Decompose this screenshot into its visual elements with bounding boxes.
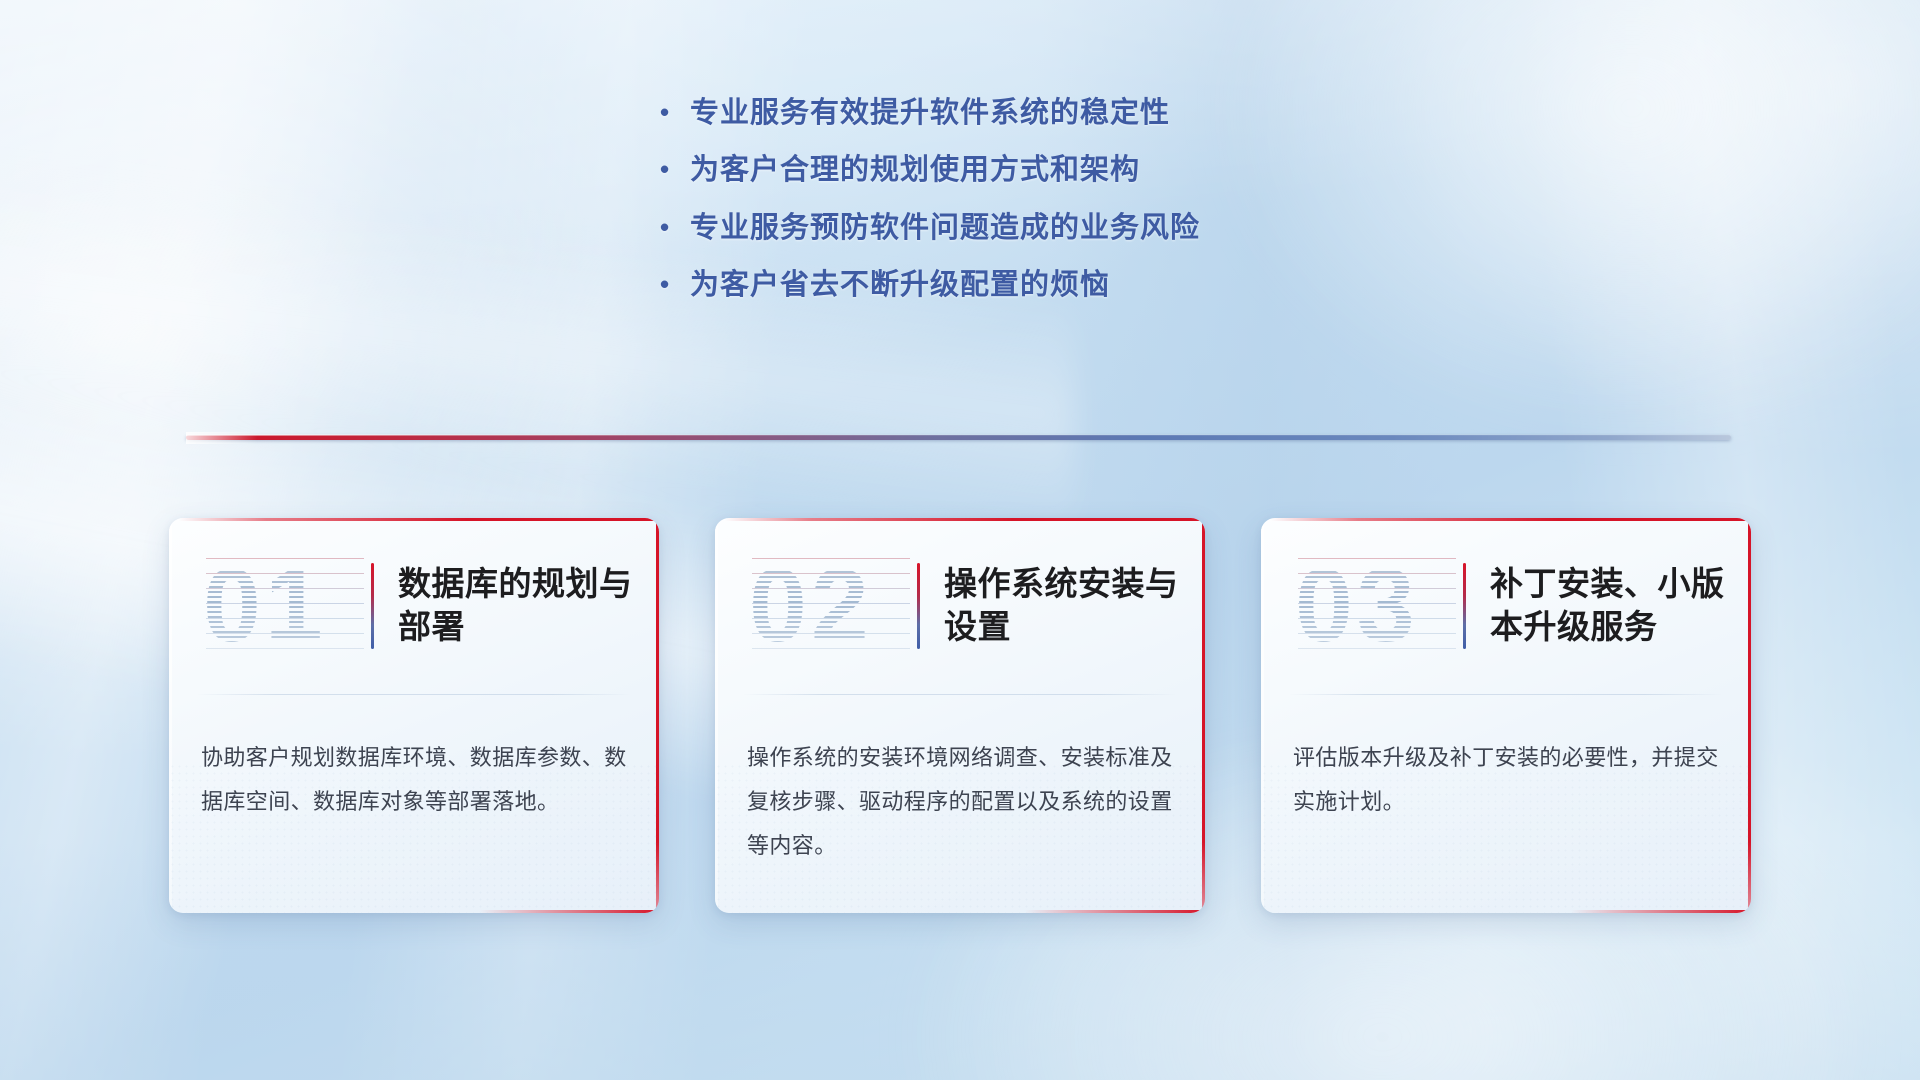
card-description: 协助客户规划数据库环境、数据库参数、数据库空间、数据库对象等部署落地。: [169, 694, 659, 824]
card-description: 操作系统的安装环境网络调查、安装标准及复核步骤、驱动程序的配置以及系统的设置等内…: [715, 694, 1205, 868]
card-header: 03 03 补丁安装、小版本升级服务: [1261, 518, 1751, 694]
bullet-item-3: • 专业服务预防软件问题造成的业务风险: [660, 211, 1440, 246]
bullet-item-4: • 为客户省去不断升级配置的烦恼: [660, 268, 1440, 303]
feature-card-row: 01 01 数据库的规划与部署 协助客户规划数据库环境、数据库参数、数据库空间、…: [0, 518, 1920, 913]
bullet-marker-icon: •: [660, 211, 690, 244]
bullet-marker-icon: •: [660, 96, 690, 129]
card-title: 数据库的规划与部署: [398, 563, 633, 649]
bullet-text-2: 为客户合理的规划使用方式和架构: [690, 153, 1440, 188]
bullet-marker-icon: •: [660, 153, 690, 186]
feature-card-02[interactable]: 02 02 操作系统安装与设置 操作系统的安装环境网络调查、安装标准及复核步骤、…: [715, 518, 1205, 913]
card-description: 评估版本升级及补丁安装的必要性，并提交实施计划。: [1261, 694, 1751, 824]
feature-card-03[interactable]: 03 03 补丁安装、小版本升级服务 评估版本升级及补丁安装的必要性，并提交实施…: [1261, 518, 1751, 913]
bullet-item-2: • 为客户合理的规划使用方式和架构: [660, 153, 1440, 188]
section-divider: [186, 432, 1731, 444]
bullet-text-4: 为客户省去不断升级配置的烦恼: [690, 268, 1440, 303]
card-title-accent-bar: [371, 563, 374, 649]
card-title: 补丁安装、小版本升级服务: [1490, 563, 1725, 649]
card-title: 操作系统安装与设置: [944, 563, 1179, 649]
card-header: 01 01 数据库的规划与部署: [169, 518, 659, 694]
card-number-text-ghost: 01: [206, 551, 364, 661]
bullet-text-1: 专业服务有效提升软件系统的稳定性: [690, 96, 1440, 131]
card-number-watermark: 01 01: [203, 551, 361, 661]
card-divider: [743, 694, 1177, 695]
bullet-item-1: • 专业服务有效提升软件系统的稳定性: [660, 96, 1440, 131]
card-divider: [1289, 694, 1723, 695]
card-divider: [197, 694, 631, 695]
card-title-accent-bar: [1463, 563, 1466, 649]
card-accent-bottom: [1025, 910, 1205, 913]
feature-card-01[interactable]: 01 01 数据库的规划与部署 协助客户规划数据库环境、数据库参数、数据库空间、…: [169, 518, 659, 913]
card-number-watermark: 02 02: [749, 551, 907, 661]
divider-sheen: [186, 434, 1731, 436]
card-accent-bottom: [479, 910, 659, 913]
bullet-list: • 专业服务有效提升软件系统的稳定性 • 为客户合理的规划使用方式和架构 • 专…: [660, 96, 1440, 326]
card-title-accent-bar: [917, 563, 920, 649]
bullet-text-3: 专业服务预防软件问题造成的业务风险: [690, 211, 1440, 246]
card-number-text-ghost: 03: [1298, 551, 1456, 661]
card-header: 02 02 操作系统安装与设置: [715, 518, 1205, 694]
card-number-text-ghost: 02: [752, 551, 910, 661]
bullet-marker-icon: •: [660, 268, 690, 301]
card-number-watermark: 03 03: [1295, 551, 1453, 661]
card-accent-bottom: [1571, 910, 1751, 913]
divider-left-taper: [186, 432, 316, 444]
